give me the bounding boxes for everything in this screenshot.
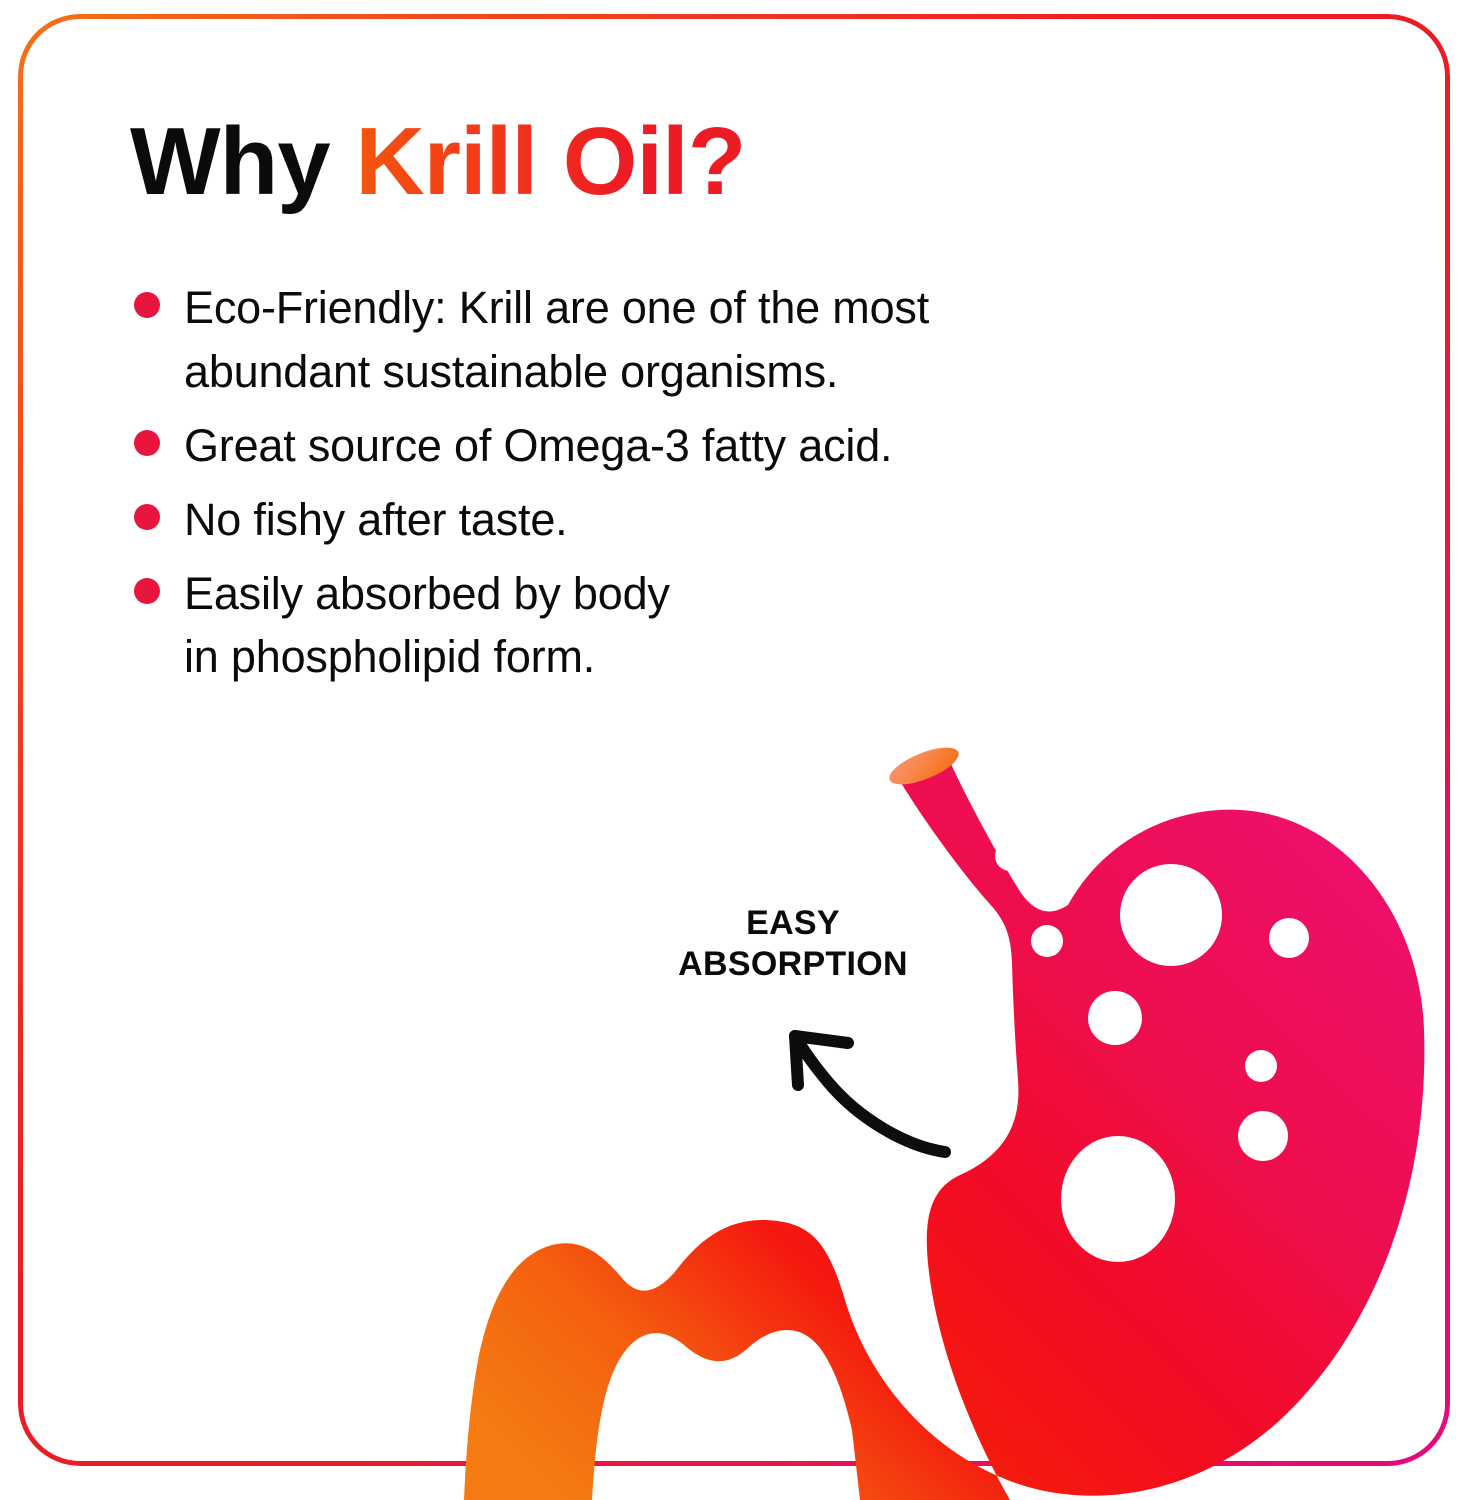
list-item: No fishy after taste. (134, 488, 1254, 552)
list-item-label: Eco-Friendly: Krill are one of the most … (184, 276, 929, 404)
title-black-part: Why (130, 108, 355, 215)
page-title: Why Krill Oil? (130, 112, 745, 213)
list-item-label: Easily absorbed by body in phospholipid … (184, 562, 670, 690)
bullet-dot-icon (134, 292, 160, 318)
list-item-label: Great source of Omega-3 fatty acid. (184, 414, 892, 478)
bullet-dot-icon (134, 504, 160, 530)
stomach-illustration (0, 0, 1476, 1500)
list-item: Great source of Omega-3 fatty acid. (134, 414, 1254, 478)
stomach-body (464, 757, 1424, 1500)
callout-line-2: ABSORPTION (648, 944, 938, 985)
bullet-dot-icon (134, 578, 160, 604)
easy-absorption-callout: EASY ABSORPTION (648, 903, 938, 986)
curved-arrow-up-left-icon (795, 1036, 945, 1152)
gradient-border-frame (18, 14, 1450, 1466)
infographic-page: Why Krill Oil? Eco-Friendly: Krill are o… (0, 0, 1476, 1500)
list-item: Eco-Friendly: Krill are one of the most … (134, 276, 1254, 404)
benefits-list: Eco-Friendly: Krill are one of the most … (134, 276, 1254, 699)
bullet-dot-icon (134, 430, 160, 456)
title-accent-part: Krill Oil? (355, 108, 745, 215)
callout-line-1: EASY (648, 903, 938, 944)
esophagus-opening (885, 740, 963, 792)
list-item-label: No fishy after taste. (184, 488, 567, 552)
list-item: Easily absorbed by body in phospholipid … (134, 562, 1254, 690)
